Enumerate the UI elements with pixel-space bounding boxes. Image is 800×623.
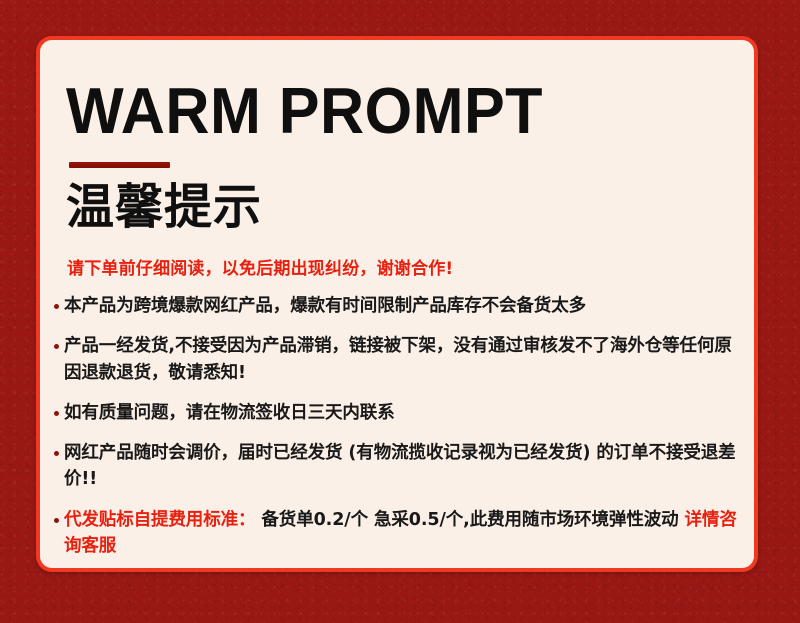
title-divider [69,162,170,168]
body-text: 如有质量问题，请在物流签收日三天内联系 [64,403,395,423]
poster-background: WARM PROMPT 温馨提示 请下单前仔细阅读，以免后期出现纠纷，谢谢合作!… [0,0,800,623]
list-item-text: 代发贴标自提费用标准： 备货单0.2/个 急采0.5/个,此费用随市场环境弹性波… [64,507,740,560]
list-item: 网红产品随时会调价，届时已经发货 (有物流揽收记录视为已经发货) 的订单不接受退… [54,440,740,493]
bullet-dot-icon [54,518,59,523]
list-item-text: 如有质量问题，请在物流签收日三天内联系 [64,400,395,426]
bullet-dot-icon [54,344,59,349]
list-item: 如有质量问题，请在物流签收日三天内联系 [54,400,740,426]
body-text: 备货单0.2/个 急采0.5/个,此费用随市场环境弹性波动 [255,510,684,530]
list-item-text: 产品一经发货,不接受因为产品滞销，链接被下架，没有通过审核发不了海外仓等任何原因… [64,333,740,386]
warm-prompt-card: WARM PROMPT 温馨提示 请下单前仔细阅读，以免后期出现纠纷，谢谢合作!… [36,36,758,572]
body-text: 本产品为跨境爆款网红产品，爆款有时间限制产品库存不会备货太多 [64,296,586,316]
list-item-text: 网红产品随时会调价，届时已经发货 (有物流揽收记录视为已经发货) 的订单不接受退… [64,440,740,493]
highlight-text: 代发贴标自提费用标准： [64,510,255,530]
list-item: 本产品为跨境爆款网红产品，爆款有时间限制产品库存不会备货太多 [54,293,740,319]
card-inner: WARM PROMPT 温馨提示 请下单前仔细阅读，以免后期出现纠纷，谢谢合作!… [40,40,754,568]
list-item: 产品一经发货,不接受因为产品滞销，链接被下架，没有通过审核发不了海外仓等任何原因… [54,333,740,386]
page-title-chinese: 温馨提示 [66,182,262,232]
body-text: 网红产品随时会调价，届时已经发货 (有物流揽收记录视为已经发货) 的订单不接受退… [64,443,736,489]
lead-note: 请下单前仔细阅读，以免后期出现纠纷，谢谢合作! [67,254,453,279]
bullet-dot-icon [54,451,59,456]
page-title-english: WARM PROMPT [66,78,543,143]
list-item: 代发贴标自提费用标准： 备货单0.2/个 急采0.5/个,此费用随市场环境弹性波… [54,507,740,560]
list-item-text: 本产品为跨境爆款网红产品，爆款有时间限制产品库存不会备货太多 [64,293,586,319]
bullet-dot-icon [54,304,59,309]
bullet-dot-icon [54,411,59,416]
body-text: 产品一经发货,不接受因为产品滞销，链接被下架，没有通过审核发不了海外仓等任何原因… [64,336,732,382]
notice-list: 本产品为跨境爆款网红产品，爆款有时间限制产品库存不会备货太多产品一经发货,不接受… [54,293,740,573]
